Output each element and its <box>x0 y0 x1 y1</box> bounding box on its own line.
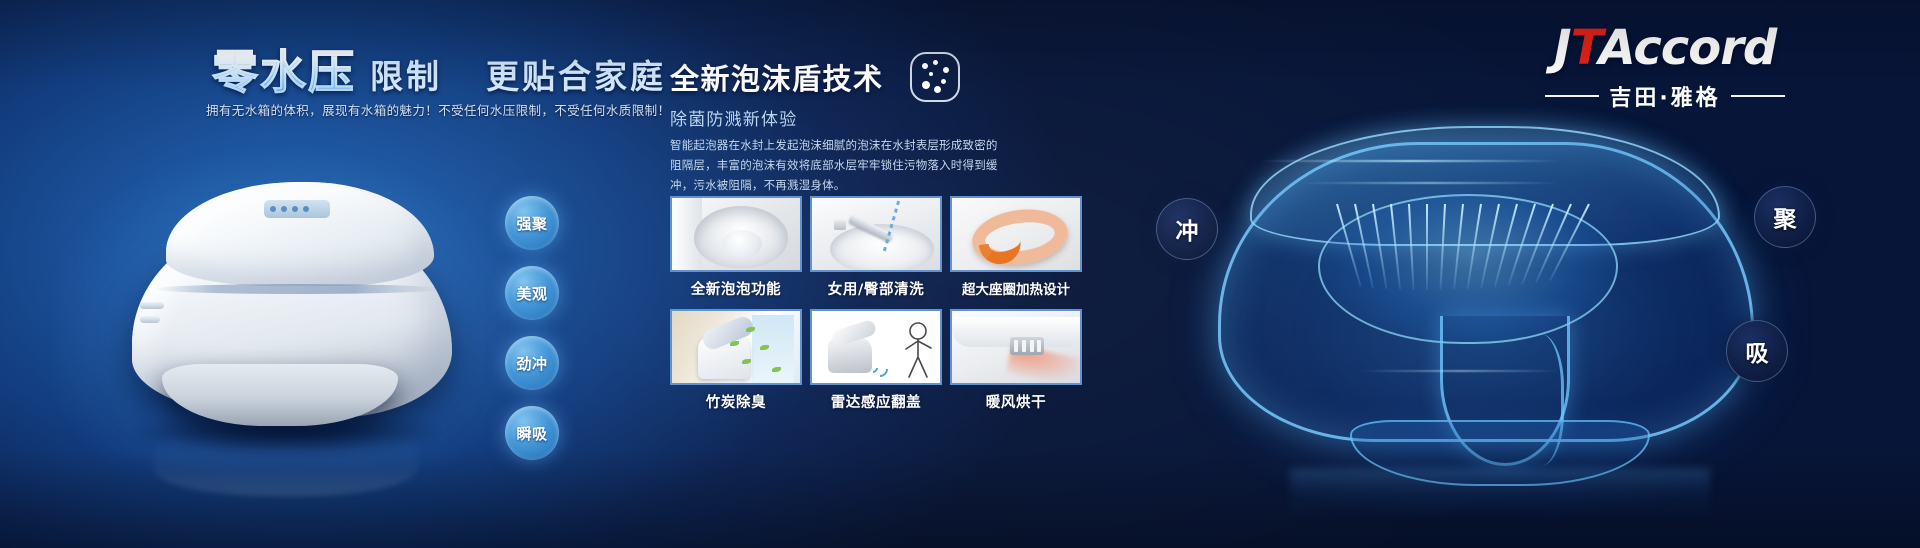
left-subtitle: 拥有无水箱的体积，展现有水箱的魅力！不受任何水压限制，不受任何水质限制！ <box>206 100 670 119</box>
feature-badge-label-0: 强聚 <box>516 213 547 234</box>
product-banner: 零水压 限制 更贴合家庭 拥有无水箱的体积，展现有水箱的魅力！不受任何水压限制，… <box>0 0 1920 548</box>
brand-logo-j: J <box>1554 20 1571 76</box>
feature-caption-4: 雷达感应翻盖 <box>810 391 942 412</box>
headline-secondary-text-1: 限制 <box>370 50 442 98</box>
feature-thumb-heated-seat <box>950 196 1082 272</box>
feature-grid-row-top: 全新泡泡功能 女用/臀部清洗 超大座圈加热设计 <box>670 196 1082 299</box>
brand-logo-cn: 吉田·雅格 <box>1609 80 1720 112</box>
product-photo-smart-toilet <box>96 126 478 456</box>
feature-thumb-bamboo-deodorize <box>670 309 802 385</box>
headline-hero-text: 零水压 <box>212 36 356 102</box>
brand-logo-cn-row: 吉田·雅格 <box>1485 80 1845 112</box>
xray-badge-label-2: 吸 <box>1746 334 1769 368</box>
brand-logo-t: T <box>1571 20 1599 76</box>
left-panel: 零水压 限制 更贴合家庭 拥有无水箱的体积，展现有水箱的魅力！不受任何水压限制，… <box>0 0 640 548</box>
feature-thumb-nozzle-wash <box>810 196 942 272</box>
foam-shield-icon <box>910 52 960 102</box>
feature-caption-2: 超大座圈加热设计 <box>950 278 1082 298</box>
xray-badge-2[interactable]: 吸 <box>1726 320 1788 382</box>
feature-caption-3: 竹炭除臭 <box>670 391 802 412</box>
feature-badge-label-1: 美观 <box>516 283 547 304</box>
middle-subtitle: 除菌防溅新体验 <box>670 105 797 130</box>
xray-reflection <box>1290 468 1710 520</box>
feature-thumb-bowl-foam <box>670 196 802 272</box>
product-seam <box>154 284 442 294</box>
feature-thumb-radar-lid <box>810 309 942 385</box>
feature-cell-4[interactable]: 雷达感应翻盖 <box>810 309 942 412</box>
product-panel-indicators <box>270 205 324 213</box>
logo-rule-left <box>1545 95 1599 97</box>
product-side-button-1 <box>140 302 164 309</box>
feature-caption-1: 女用/臀部清洗 <box>810 278 942 299</box>
product-reflection <box>154 430 418 497</box>
xray-flush-fins <box>1336 204 1604 316</box>
xray-toilet-illustration: 冲 聚 吸 <box>1140 120 1840 520</box>
middle-body-text: 智能起泡器在水封上发起泡沫细腻的泡沫在水封表层形成致密的阻隔层，丰富的泡沫有效将… <box>670 136 1000 195</box>
xray-badge-1[interactable]: 聚 <box>1754 186 1816 248</box>
brand-logo[interactable]: JTAccord 吉田·雅格 <box>1485 24 1845 112</box>
feature-badge-2[interactable]: 劲冲 <box>505 336 559 390</box>
middle-headline-row: 全新泡沫盾技术 <box>670 52 960 102</box>
left-headline: 零水压 限制 更贴合家庭 <box>212 36 666 102</box>
xray-badge-0[interactable]: 冲 <box>1156 198 1218 260</box>
middle-title: 全新泡沫盾技术 <box>670 56 884 98</box>
feature-badge-3[interactable]: 瞬吸 <box>505 406 559 460</box>
feature-badge-1[interactable]: 美观 <box>505 266 559 320</box>
feature-caption-0: 全新泡泡功能 <box>670 278 802 299</box>
walking-person-icon <box>900 321 936 381</box>
brand-logo-wordmark: JTAccord <box>1485 24 1845 72</box>
left-feature-badges: 强聚 美观 劲冲 瞬吸 <box>505 196 559 460</box>
feature-cell-1[interactable]: 女用/臀部清洗 <box>810 196 942 299</box>
feature-badge-label-3: 瞬吸 <box>516 423 547 444</box>
right-panel: JTAccord 吉田·雅格 <box>1130 0 1920 548</box>
logo-rule-right <box>1731 95 1785 97</box>
product-side-button-2 <box>140 316 160 323</box>
feature-cell-0[interactable]: 全新泡泡功能 <box>670 196 802 299</box>
feature-cell-5[interactable]: 暖风烘干 <box>950 309 1082 412</box>
xray-badge-label-0: 冲 <box>1176 212 1199 246</box>
feature-caption-5: 暖风烘干 <box>950 391 1082 412</box>
feature-badge-0[interactable]: 强聚 <box>505 196 559 250</box>
feature-thumb-warm-dry <box>950 309 1082 385</box>
headline-secondary-text-2: 更贴合家庭 <box>486 50 666 98</box>
xray-badge-label-1: 聚 <box>1774 200 1797 234</box>
feature-badge-label-2: 劲冲 <box>516 353 547 374</box>
feature-grid: 全新泡泡功能 女用/臀部清洗 超大座圈加热设计 <box>670 196 1082 412</box>
feature-cell-2[interactable]: 超大座圈加热设计 <box>950 196 1082 299</box>
feature-cell-3[interactable]: 竹炭除臭 <box>670 309 802 412</box>
feature-grid-row-bottom: 竹炭除臭 雷达感应翻盖 <box>670 309 1082 412</box>
brand-logo-accord: Accord <box>1599 20 1777 76</box>
